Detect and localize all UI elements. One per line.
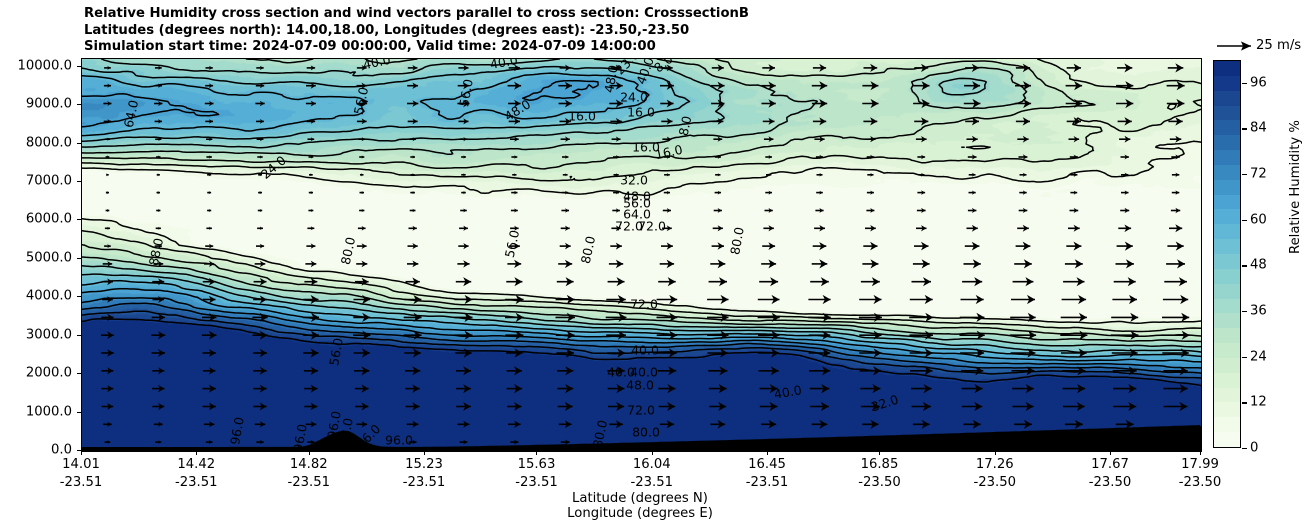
wind-vector-arrow-icon <box>558 402 573 411</box>
wind-vector-arrow-icon <box>914 117 928 125</box>
colorbar-segment <box>1214 402 1240 417</box>
wind-vector-arrow-icon <box>561 440 570 445</box>
x-tick-label-latitude: 14.01 <box>62 457 100 472</box>
wind-vector-arrow-icon <box>353 313 370 322</box>
wind-vector-arrow-icon <box>152 403 164 410</box>
wind-vector-arrow-icon <box>253 331 268 340</box>
wind-vector-arrow-icon <box>916 225 927 231</box>
colorbar-segment <box>1214 195 1240 210</box>
contour-label: 96.0 <box>227 416 247 446</box>
wind-vector-arrow-icon <box>157 173 160 176</box>
wind-vector-arrow-icon <box>865 136 875 142</box>
wind-vector-arrow-icon <box>862 420 878 429</box>
wind-vector-arrow-icon <box>859 313 882 322</box>
wind-vector-arrow-icon <box>1065 259 1083 268</box>
wind-vector-arrow-icon <box>1069 136 1080 142</box>
wind-vector-arrow-icon <box>303 331 319 340</box>
wind-vector-arrow-icon <box>454 331 472 340</box>
wind-vector-arrow-icon <box>461 155 466 158</box>
wind-vector-arrow-icon <box>102 385 114 392</box>
chart-title: Relative Humidity cross section and wind… <box>84 6 749 56</box>
wind-vector-arrow-icon <box>1063 384 1086 393</box>
wind-vector-arrow-icon <box>1061 313 1087 322</box>
wind-vector-arrow-icon <box>1068 225 1080 232</box>
wind-vector-arrow-icon <box>1162 313 1189 322</box>
y-tick-mark <box>77 104 81 105</box>
wind-vector-arrow-icon <box>1161 331 1189 340</box>
wind-vector-arrow-icon <box>558 260 572 268</box>
x-tick-label-longitude: -23.51 <box>403 475 446 490</box>
wind-vector-arrow-icon <box>1166 259 1185 268</box>
quiver-key-label: 25 m/s <box>1256 38 1301 53</box>
wind-vector-arrow-icon <box>658 366 677 375</box>
wind-vector-arrow-icon <box>1113 384 1136 393</box>
y-tick-mark <box>77 258 81 259</box>
wind-vector-arrow-icon <box>102 278 113 285</box>
wind-vector-arrow-icon <box>1118 117 1132 126</box>
wind-vector-arrow-icon <box>810 384 830 393</box>
wind-vector-arrow-icon <box>410 209 416 213</box>
wind-vector-arrow-icon <box>1117 242 1133 251</box>
y-tick-mark <box>77 143 81 144</box>
wind-vector-arrow-icon <box>913 99 929 108</box>
wind-vector-arrow-icon <box>105 440 111 443</box>
colorbar-tick-label: 60 <box>1250 212 1267 227</box>
wind-vector-arrow-icon <box>206 155 212 158</box>
contour-label: 24.0 <box>620 90 648 105</box>
wind-vector-arrow-icon <box>557 277 574 286</box>
wind-vector-arrow-icon <box>812 420 828 429</box>
wind-vector-arrow-icon <box>205 119 213 124</box>
wind-vector-arrow-icon <box>106 191 109 194</box>
colorbar-tick-mark <box>1242 357 1247 358</box>
wind-vector-arrow-icon <box>206 66 213 70</box>
wind-vector-arrow-icon <box>360 191 365 194</box>
wind-vector-arrow-icon <box>664 173 670 176</box>
y-tick-label: 8000.0 <box>26 135 72 150</box>
colorbar-segment <box>1214 299 1240 314</box>
wind-vector-arrow-icon <box>456 384 471 393</box>
wind-vector-arrow-icon <box>658 277 676 286</box>
wind-vector-arrow-icon <box>104 66 111 70</box>
wind-vector-arrow-icon <box>914 64 928 72</box>
contour-label: 56.0 <box>456 78 476 108</box>
wind-vector-arrow-icon <box>505 295 523 304</box>
wind-vector-arrow-icon <box>456 277 471 286</box>
wind-vector-arrow-icon <box>867 191 874 195</box>
wind-vector-arrow-icon <box>1114 277 1136 286</box>
wind-vector-arrow-icon <box>1164 402 1188 411</box>
title-line-1: Relative Humidity cross section and wind… <box>84 6 749 23</box>
wind-vector-arrow-icon <box>101 349 114 357</box>
wind-vector-arrow-icon <box>1014 420 1032 429</box>
x-tick-label-longitude: -23.51 <box>630 475 673 490</box>
colorbar-tick-mark <box>1242 83 1247 84</box>
y-tick-label: 1000.0 <box>26 404 72 419</box>
wind-vector-arrow-icon <box>459 226 468 231</box>
wind-vector-arrow-icon <box>206 440 213 444</box>
wind-vector-arrow-icon <box>765 155 772 159</box>
wind-vector-arrow-icon <box>105 138 110 141</box>
x-tick-mark <box>536 451 537 455</box>
wind-vector-arrow-icon <box>1121 190 1129 195</box>
y-tick-label: 2000.0 <box>26 366 72 381</box>
wind-vector-arrow-icon <box>610 243 622 250</box>
wind-vector-arrow-icon <box>357 118 367 124</box>
title-line-3: Simulation start time: 2024-07-09 00:00:… <box>84 39 749 56</box>
y-tick-mark <box>77 412 81 413</box>
y-tick-label: 3000.0 <box>26 327 72 342</box>
x-tick-label-latitude: 15.63 <box>518 457 556 472</box>
wind-vector-arrow-icon <box>708 366 727 375</box>
y-tick-mark <box>77 181 81 182</box>
wind-vector-arrow-icon <box>861 277 880 286</box>
x-tick-label-latitude: 14.42 <box>177 457 215 472</box>
contour-label: 80.0 <box>338 236 358 266</box>
wind-vector-arrow-icon <box>709 384 727 393</box>
wind-vector-arrow-icon <box>810 402 829 411</box>
wind-vector-arrow-icon <box>506 348 522 357</box>
wind-vector-arrow-icon <box>860 366 882 375</box>
colorbar-tick-label: 84 <box>1250 121 1267 136</box>
wind-vector-arrow-icon <box>359 209 364 212</box>
wind-vector-arrow-icon <box>103 422 112 427</box>
wind-vector-arrow-icon <box>968 154 977 159</box>
colorbar-segment <box>1214 313 1240 328</box>
wind-vector-arrow-icon <box>356 261 367 268</box>
wind-vector-arrow-icon <box>101 331 114 339</box>
colorbar-segment <box>1214 61 1240 76</box>
wind-vector-arrow-icon <box>661 118 672 125</box>
wind-vector-arrow-icon <box>663 208 671 213</box>
wind-vector-arrow-icon <box>763 225 774 231</box>
wind-vector-arrow-icon <box>1116 259 1134 268</box>
wind-vector-arrow-icon <box>206 227 212 230</box>
wind-vector-arrow-icon <box>1017 136 1028 143</box>
wind-vector-arrow-icon <box>1167 242 1183 251</box>
contour-label: 40.0 <box>362 59 392 72</box>
wind-vector-arrow-icon <box>563 173 568 176</box>
wind-vector-arrow-icon <box>912 402 931 411</box>
wind-vector-arrow-icon <box>512 173 516 176</box>
wind-vector-arrow-icon <box>709 277 727 286</box>
wind-vector-arrow-icon <box>965 64 979 72</box>
wind-vector-arrow-icon <box>104 84 111 88</box>
wind-vector-arrow-icon <box>862 99 878 108</box>
wind-vector-arrow-icon <box>308 137 315 141</box>
wind-vector-arrow-icon <box>155 66 162 70</box>
wind-vector-arrow-icon <box>404 295 422 304</box>
wind-vector-arrow-icon <box>460 137 467 141</box>
wind-vector-arrow-icon <box>1065 420 1083 429</box>
y-tick-label: 6000.0 <box>26 212 72 227</box>
wind-vector-arrow-icon <box>407 421 419 428</box>
x-tick-label-latitude: 17.26 <box>976 457 1014 472</box>
wind-vector-arrow-icon <box>102 367 114 374</box>
wind-vector-arrow-icon <box>306 101 316 107</box>
contour-label: 80.0 <box>578 235 598 265</box>
wind-vector-arrow-icon <box>916 136 927 142</box>
wind-vector-arrow-icon <box>407 100 418 107</box>
wind-vector-arrow-icon <box>256 244 264 249</box>
wind-vector-arrow-icon <box>862 81 878 90</box>
wind-vector-arrow-icon <box>255 101 264 107</box>
x-tick-label-longitude: -23.50 <box>973 475 1016 490</box>
x-tick-label-longitude: -23.51 <box>175 475 218 490</box>
wind-vector-arrow-icon <box>205 101 214 106</box>
wind-vector-arrow-icon <box>458 243 468 249</box>
wind-vector-arrow-icon <box>203 367 216 375</box>
wind-vector-arrow-icon <box>1070 208 1079 213</box>
wind-vector-arrow-icon <box>1163 295 1188 304</box>
contour-label: 32.0 <box>620 173 648 188</box>
y-tick-label: 9000.0 <box>26 97 72 112</box>
x-tick-mark <box>767 451 768 455</box>
wind-vector-arrow-icon <box>1113 402 1136 411</box>
x-tick-label-latitude: 16.04 <box>633 457 671 472</box>
wind-vector-arrow-icon <box>661 243 673 250</box>
contour-label: 16.0 <box>568 109 596 124</box>
contour-label: 16.0 <box>627 105 655 120</box>
x-tick-label-latitude: 17.99 <box>1181 457 1219 472</box>
wind-vector-arrow-icon <box>608 384 625 393</box>
wind-vector-arrow-icon <box>408 118 418 124</box>
wind-vector-arrow-icon <box>207 191 211 194</box>
wind-vector-arrow-icon <box>707 295 728 304</box>
wind-vector-arrow-icon <box>713 225 723 231</box>
wind-vector-arrow-icon <box>612 137 621 142</box>
contours-and-vectors: 64.056.024.040.040.048.048.056.023.040.0… <box>82 59 1201 451</box>
colorbar-segment <box>1214 358 1240 373</box>
wind-vector-arrow-icon <box>1119 136 1130 143</box>
wind-vector-arrow-icon <box>255 421 266 427</box>
wind-vector-arrow-icon <box>967 225 978 232</box>
x-tick-label-latitude: 16.85 <box>861 457 899 472</box>
wind-vector-arrow-icon <box>156 209 160 212</box>
x-tick-mark <box>309 451 310 455</box>
wind-vector-arrow-icon <box>256 119 264 124</box>
wind-vector-arrow-icon <box>917 190 925 195</box>
wind-vector-arrow-icon <box>711 82 725 90</box>
wind-vector-arrow-icon <box>1169 224 1182 232</box>
wind-vector-arrow-icon <box>657 295 678 304</box>
colorbar-segment <box>1214 180 1240 195</box>
x-tick-label-longitude: -23.50 <box>858 475 901 490</box>
wind-vector-arrow-icon <box>309 191 313 194</box>
wind-vector-arrow-icon <box>1172 173 1179 177</box>
y-tick-mark <box>77 219 81 220</box>
contour-label: 56.0 <box>351 86 371 116</box>
wind-vector-arrow-icon <box>154 422 163 427</box>
colorbar[interactable] <box>1213 60 1241 448</box>
wind-vector-arrow-icon <box>1168 63 1184 72</box>
colorbar-tick-label: 96 <box>1250 75 1267 90</box>
wind-vector-arrow-icon <box>913 81 930 90</box>
wind-vector-arrow-icon <box>507 366 522 375</box>
wind-vector-arrow-icon <box>306 243 315 248</box>
colorbar-segment <box>1214 328 1240 343</box>
wind-vector-arrow-icon <box>304 403 317 411</box>
colorbar-segment <box>1214 432 1240 447</box>
wind-vector-arrow-icon <box>817 173 823 177</box>
wind-vector-arrow-icon <box>1167 81 1185 90</box>
wind-vector-arrow-icon <box>354 366 369 375</box>
contour-label: 80.0 <box>632 425 660 440</box>
wind-vector-arrow-icon <box>153 296 165 303</box>
wind-vector-arrow-icon <box>961 295 984 304</box>
wind-vector-arrow-icon <box>105 227 110 230</box>
wind-vector-arrow-icon <box>1016 64 1030 73</box>
wind-vector-arrow-icon <box>711 420 726 429</box>
wind-vector-arrow-icon <box>813 242 827 250</box>
wind-vector-arrow-icon <box>357 243 367 249</box>
x-tick-label-longitude: -23.51 <box>60 475 103 490</box>
colorbar-segment <box>1214 254 1240 269</box>
x-tick-label-longitude: -23.51 <box>746 475 789 490</box>
wind-vector-arrow-icon <box>709 402 726 411</box>
wind-vector-arrow-icon <box>660 260 674 269</box>
colorbar-tick-mark <box>1242 174 1247 175</box>
wind-vector-arrow-icon <box>810 277 829 286</box>
wind-vector-arrow-icon <box>511 208 518 212</box>
colorbar-segment <box>1214 165 1240 180</box>
wind-vector-arrow-icon <box>711 100 724 108</box>
wind-vector-arrow-icon <box>714 208 722 213</box>
wind-vector-arrow-icon <box>560 65 571 72</box>
x-tick-label-longitude: -23.50 <box>1179 475 1222 490</box>
wind-vector-arrow-icon <box>969 173 976 177</box>
colorbar-tick-mark <box>1242 220 1247 221</box>
wind-vector-arrow-icon <box>1017 225 1029 232</box>
wind-vector-arrow-icon <box>359 155 364 158</box>
wind-vector-arrow-icon <box>203 385 216 393</box>
wind-vector-arrow-icon <box>408 243 418 249</box>
wind-vector-arrow-icon <box>660 420 674 429</box>
wind-vector-arrow-icon <box>106 209 110 212</box>
wind-vector-arrow-icon <box>960 313 985 322</box>
wind-vector-arrow-icon <box>408 65 418 71</box>
colorbar-tick-label: 36 <box>1250 304 1267 319</box>
colorbar-segment <box>1214 224 1240 239</box>
wind-vector-arrow-icon <box>762 242 775 250</box>
x-tick-mark <box>879 451 880 455</box>
title-line-2: Latitudes (degrees north): 14.00,18.00, … <box>84 23 749 40</box>
wind-vector-arrow-icon <box>606 313 627 322</box>
wind-vector-arrow-icon <box>253 403 266 411</box>
wind-vector-arrow-icon <box>410 155 415 158</box>
contour-label: 32.0 <box>869 392 900 415</box>
colorbar-tick-mark <box>1242 402 1247 403</box>
colorbar-segment <box>1214 106 1240 121</box>
wind-vector-arrow-icon <box>608 402 624 411</box>
wind-vector-arrow-icon <box>258 191 262 194</box>
contour-label: 48.0 <box>626 378 654 393</box>
colorbar-tick-label: 72 <box>1250 167 1267 182</box>
wind-vector-arrow-icon <box>859 295 881 304</box>
wind-vector-arrow-icon <box>608 277 625 286</box>
wind-vector-arrow-icon <box>964 99 981 108</box>
wind-vector-arrow-icon <box>1118 225 1131 233</box>
wind-vector-arrow-icon <box>762 64 775 72</box>
wind-vector-arrow-icon <box>409 137 416 141</box>
wind-vector-arrow-icon <box>559 100 572 108</box>
wind-vector-arrow-icon <box>203 296 216 304</box>
wind-vector-arrow-icon <box>307 226 314 230</box>
wind-vector-arrow-icon <box>911 384 932 393</box>
wind-vector-arrow-icon <box>354 348 370 357</box>
wind-vector-arrow-icon <box>204 261 214 267</box>
wind-vector-arrow-icon <box>759 277 778 286</box>
colorbar-segment <box>1214 120 1240 135</box>
wind-vector-arrow-icon <box>309 173 313 176</box>
wind-vector-arrow-icon <box>815 208 823 213</box>
x-tick-label-longitude: -23.50 <box>1089 475 1132 490</box>
wind-vector-arrow-icon <box>1063 277 1084 286</box>
wind-vector-arrow-icon <box>1066 81 1083 90</box>
y-tick-label: 4000.0 <box>26 289 72 304</box>
wind-vector-arrow-icon <box>355 402 368 410</box>
wind-vector-arrow-icon <box>360 173 364 176</box>
wind-vector-arrow-icon <box>305 261 316 268</box>
wind-vector-arrow-icon <box>759 366 779 375</box>
wind-vector-arrow-icon <box>458 421 470 428</box>
wind-vector-arrow-icon <box>962 277 982 286</box>
wind-vector-arrow-icon <box>1062 295 1087 304</box>
wind-vector-arrow-icon <box>761 420 776 429</box>
wind-vector-arrow-icon <box>1012 402 1033 411</box>
contour-label: 88.0 <box>146 237 166 267</box>
x-tick-label-longitude: -23.51 <box>515 475 558 490</box>
contour-label: 80.0 <box>727 226 747 256</box>
wind-vector-arrow-icon <box>303 313 319 322</box>
wind-vector-arrow-icon <box>102 403 114 410</box>
wind-vector-arrow-icon <box>152 278 164 285</box>
wind-vector-arrow-icon <box>812 81 827 90</box>
wind-vector-arrow-icon <box>917 155 925 160</box>
wind-vector-arrow-icon <box>1121 155 1129 160</box>
wind-vector-arrow-icon <box>765 208 773 213</box>
x-tick-mark <box>652 451 653 455</box>
wind-vector-arrow-icon <box>609 260 623 269</box>
wind-vector-arrow-icon <box>561 208 569 213</box>
wind-vector-arrow-icon <box>1063 402 1085 411</box>
cross-section-plot[interactable]: 64.056.024.040.040.048.048.056.023.040.0… <box>81 58 1202 452</box>
wind-vector-arrow-icon <box>257 155 262 158</box>
wind-vector-arrow-icon <box>104 244 111 248</box>
wind-vector-arrow-icon <box>1066 242 1081 251</box>
wind-vector-arrow-icon <box>1067 64 1081 73</box>
x-tick-mark <box>995 451 996 455</box>
wind-vector-arrow-icon <box>304 385 317 393</box>
wind-vector-arrow-icon <box>557 366 573 375</box>
x-tick-mark <box>1200 451 1201 455</box>
wind-vector-arrow-icon <box>256 440 263 444</box>
wind-vector-arrow-icon <box>1015 81 1031 90</box>
wind-vector-arrow-icon <box>1120 208 1129 213</box>
wind-vector-arrow-icon <box>1170 136 1182 143</box>
wind-vector-arrow-icon <box>758 295 780 304</box>
colorbar-segment <box>1214 209 1240 224</box>
contour-label: 64.0 <box>121 99 141 129</box>
wind-vector-arrow-icon <box>456 402 471 411</box>
y-tick-label: 0.0 <box>51 443 72 458</box>
wind-vector-arrow-icon <box>157 191 161 194</box>
wind-vector-arrow-icon <box>763 118 775 125</box>
wind-vector-arrow-icon <box>106 173 109 176</box>
wind-vector-arrow-icon <box>561 136 570 142</box>
wind-vector-arrow-icon <box>101 314 113 321</box>
wind-vector-arrow-icon <box>460 440 468 445</box>
